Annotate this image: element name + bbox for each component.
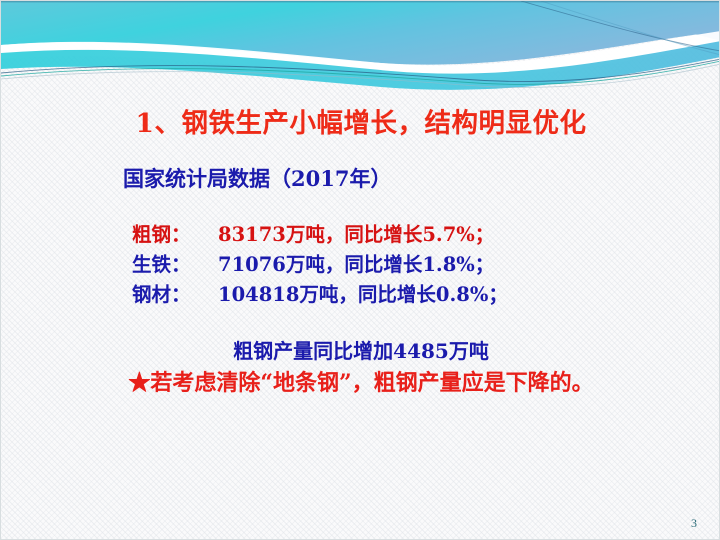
stat-label: 生铁： — [132, 250, 218, 280]
data-source-label: 国家统计局数据（2017年） — [123, 163, 391, 193]
stat-row: 生铁：71076万吨，同比增长1.8%； — [132, 250, 508, 280]
caution-line: ★若考虑清除“地条钢”，粗钢产量应是下降的。 — [1, 365, 720, 397]
stat-label: 粗钢： — [132, 220, 218, 250]
stat-value: 104818万吨，同比增长0.8%； — [218, 283, 508, 306]
page-number: 3 — [691, 516, 697, 531]
slide-content: 1、钢铁生产小幅增长，结构明显优化 国家统计局数据（2017年） 粗钢：8317… — [1, 1, 719, 539]
stat-value: 83173万吨，同比增长5.7%； — [218, 223, 494, 246]
slide-canvas: 1、钢铁生产小幅增长，结构明显优化 国家统计局数据（2017年） 粗钢：8317… — [0, 0, 720, 540]
stat-label: 钢材： — [132, 280, 218, 310]
summary-line: 粗钢产量同比增加4485万吨 — [1, 335, 720, 364]
stat-row: 粗钢：83173万吨，同比增长5.7%； — [132, 220, 508, 250]
statistics-list: 粗钢：83173万吨，同比增长5.7%； 生铁：71076万吨，同比增长1.8%… — [132, 220, 508, 310]
stat-row: 钢材：104818万吨，同比增长0.8%； — [132, 280, 508, 310]
stat-value: 71076万吨，同比增长1.8%； — [218, 253, 494, 276]
slide-title: 1、钢铁生产小幅增长，结构明显优化 — [1, 101, 720, 140]
